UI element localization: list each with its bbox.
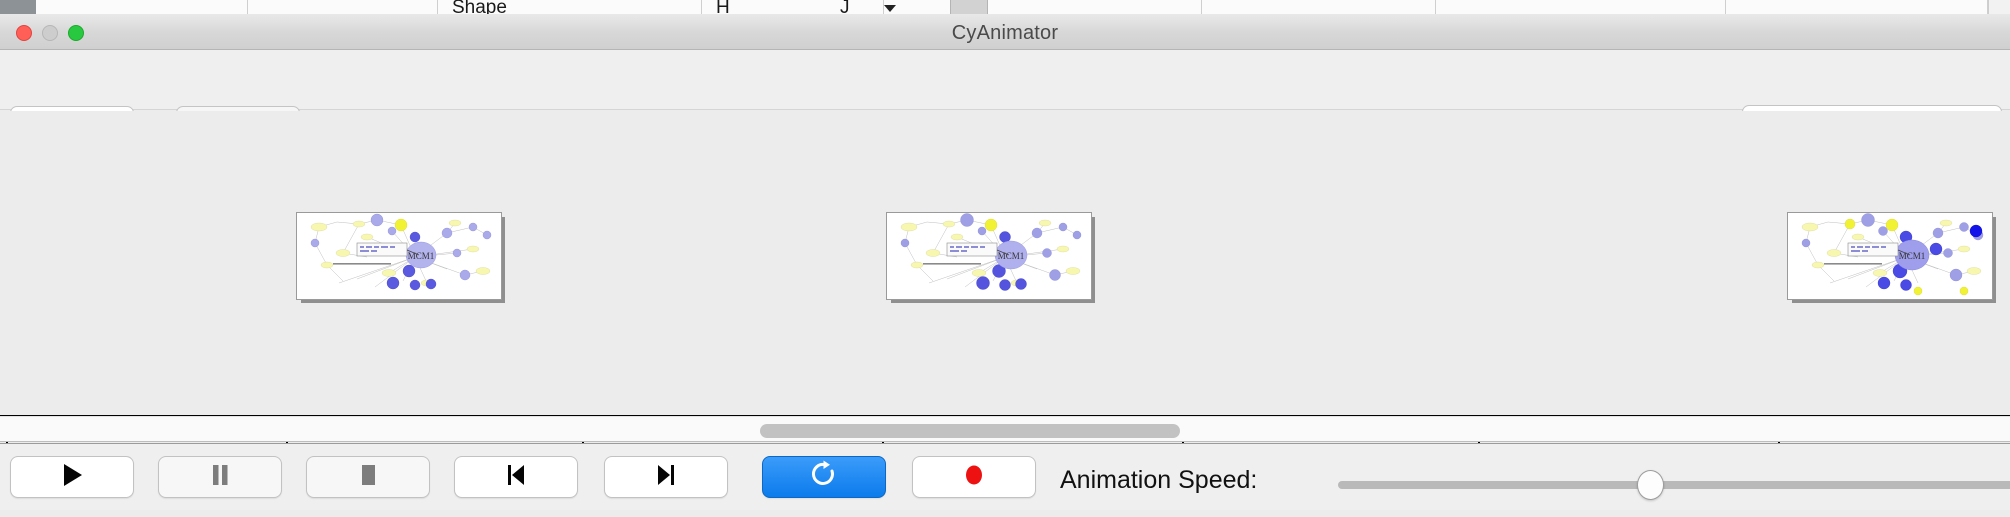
background-sort-arrow-icon	[884, 5, 896, 12]
frame-node-label: MCM1	[1899, 251, 1926, 261]
window-title: CyAnimator	[0, 22, 2010, 45]
timeline-frame-thumbnail[interactable]: MCM1	[1787, 212, 1993, 300]
network-graph-preview: MCM1	[1788, 213, 1993, 300]
timeline-scrollbar-thumb[interactable]	[760, 424, 1180, 438]
timeline-panel[interactable]: MCM1	[0, 111, 2010, 416]
stop-button[interactable]	[306, 456, 430, 498]
timeline-frame-thumbnail[interactable]: MCM1	[296, 212, 502, 300]
play-icon	[59, 461, 85, 494]
skip-back-icon	[503, 461, 529, 494]
network-graph-preview: MCM1	[297, 213, 502, 300]
record-button[interactable]	[912, 456, 1036, 498]
pause-button[interactable]	[158, 456, 282, 498]
network-graph-preview: MCM1	[887, 213, 1092, 300]
stop-icon	[355, 461, 381, 494]
loop-icon	[810, 460, 838, 495]
pause-icon	[207, 461, 233, 494]
animation-speed-label: Animation Speed:	[1060, 466, 1257, 495]
skip-to-start-button[interactable]	[454, 456, 578, 498]
background-segment	[248, 0, 438, 14]
frame-node-label: MCM1	[998, 251, 1025, 261]
skip-to-end-button[interactable]	[604, 456, 728, 498]
timeline-frame-thumbnail[interactable]: MCM1	[886, 212, 1092, 300]
play-button[interactable]	[10, 456, 134, 498]
animation-speed-slider-thumb[interactable]	[1637, 470, 1664, 500]
frame-node-label: MCM1	[408, 251, 435, 261]
skip-forward-icon	[653, 461, 679, 494]
record-icon	[961, 461, 987, 494]
background-scrollbar[interactable]	[1988, 0, 2010, 14]
background-app-strip: Shape H J	[0, 0, 2010, 14]
background-segment	[1202, 0, 1436, 14]
background-selected-cell	[950, 0, 988, 14]
timeline-scrollbar-track[interactable]	[0, 416, 2010, 442]
background-segment	[36, 0, 248, 14]
background-dark-segment	[0, 0, 36, 14]
playback-toolbar: Animation Speed:	[0, 443, 2010, 510]
animation-speed-slider-track[interactable]	[1338, 481, 2010, 489]
background-segment	[884, 0, 1202, 14]
frame-toolbar: + Clear All Frames	[0, 50, 2010, 110]
loop-button[interactable]	[762, 456, 886, 498]
window-titlebar[interactable]: CyAnimator	[0, 14, 2010, 50]
background-segment	[1436, 0, 1726, 14]
background-segment	[1726, 0, 1988, 14]
